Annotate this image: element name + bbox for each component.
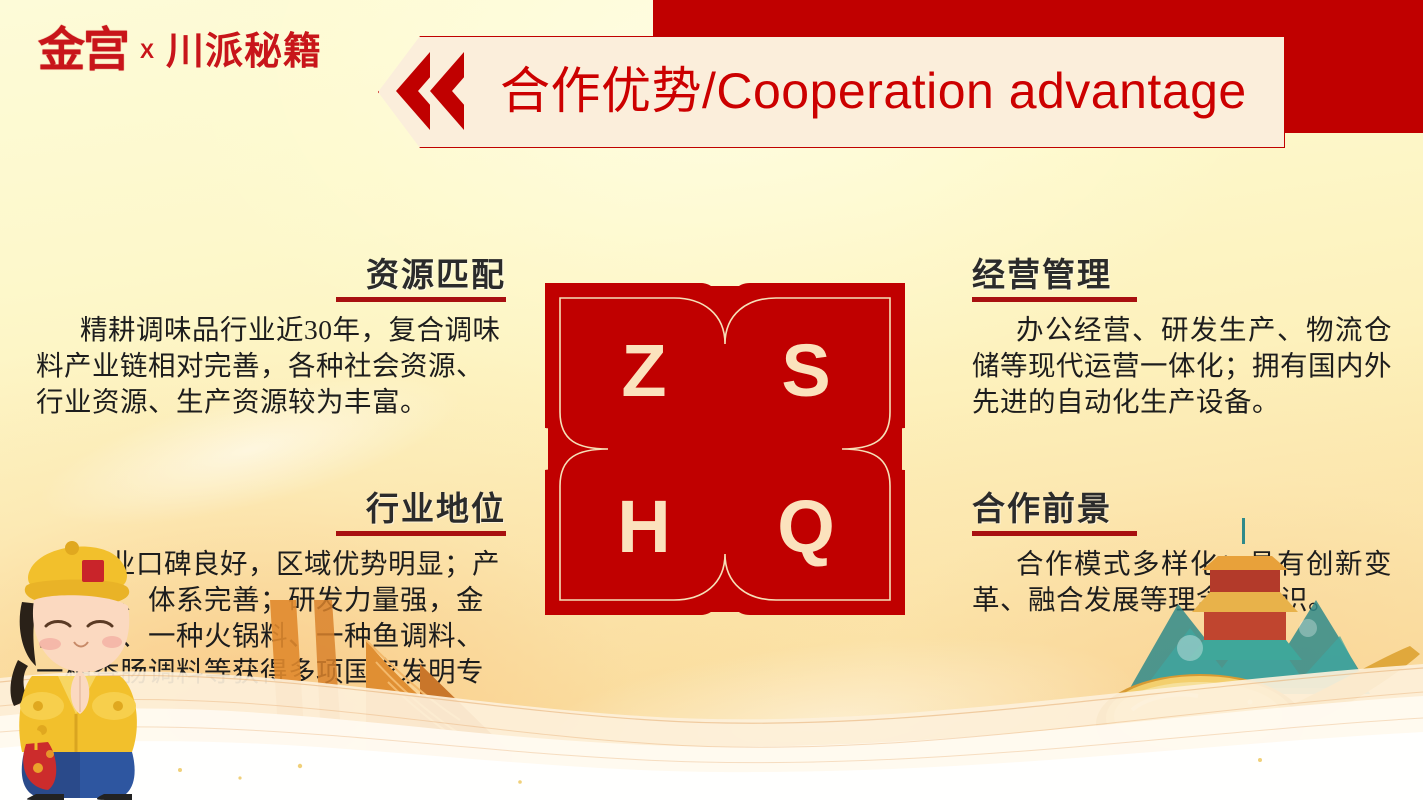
block-heading-wrap: 经营管理 <box>972 258 1392 302</box>
block-heading-industry: 行业地位 <box>366 492 506 528</box>
logo-partner-text: 川派秘籍 <box>166 33 322 71</box>
emblem-letter-z: Z <box>621 329 666 412</box>
emblem-letter-h: H <box>617 485 670 568</box>
slide-canvas: 金宫 X 川派秘籍 合作优势/Cooperation advantage 资源匹… <box>0 0 1423 800</box>
heading-underline <box>972 297 1137 302</box>
flowing-wave-ribbons <box>0 620 1423 800</box>
quatrefoil-emblem: Z S H Q <box>540 278 910 620</box>
banner-title-text: 合作优势/Cooperation advantage <box>500 36 1247 146</box>
block-body-resource: 精耕调味品行业近30年，复合调味料产业链相对完善，各种社会资源、行业资源、生产资… <box>36 312 506 419</box>
emblem-letter-q: Q <box>777 485 835 568</box>
logo-separator-x: X <box>138 40 156 64</box>
block-heading-wrap: 资源匹配 <box>36 258 506 302</box>
block-heading-future: 合作前景 <box>972 492 1112 528</box>
heading-underline <box>336 531 506 536</box>
heading-underline <box>336 297 506 302</box>
content-block-management: 经营管理 办公经营、研发生产、物流仓储等现代运营一体化；拥有国内外先进的自动化生… <box>972 258 1392 420</box>
chevron-inner-cut-2 <box>452 52 486 130</box>
logo-brand-text: 金宫 <box>38 28 128 75</box>
block-heading-management: 经营管理 <box>972 258 1112 294</box>
emblem-letter-s: S <box>781 329 830 412</box>
block-body-management: 办公经营、研发生产、物流仓储等现代运营一体化；拥有国内外先进的自动化生产设备。 <box>972 312 1392 419</box>
content-block-resource: 资源匹配 精耕调味品行业近30年，复合调味料产业链相对完善，各种社会资源、行业资… <box>36 258 506 420</box>
block-heading-resource: 资源匹配 <box>366 258 506 294</box>
mascot-child-illustration <box>2 530 192 800</box>
title-banner: 合作优势/Cooperation advantage <box>378 36 1283 146</box>
heading-underline <box>972 531 1137 536</box>
brand-logo: 金宫 X 川派秘籍 <box>38 28 322 75</box>
